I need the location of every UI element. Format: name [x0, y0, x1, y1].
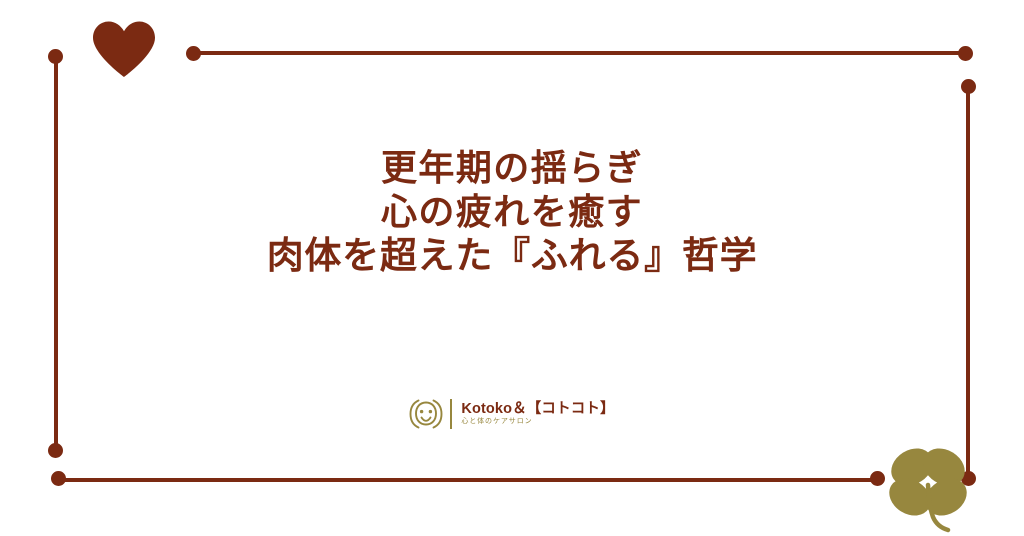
logo-divider	[450, 399, 452, 429]
smiley-face-icon	[409, 396, 443, 432]
frame-dot-left-bottom	[48, 443, 63, 458]
heart-icon	[91, 20, 157, 78]
brand-logo-inner: Kotoko＆【コトコト】 心と体のケアサロン	[409, 396, 614, 432]
logo-text-group: Kotoko＆【コトコト】 心と体のケアサロン	[459, 402, 614, 426]
frame-dot-top-start	[186, 46, 201, 61]
headline: 更年期の揺らぎ 心の疲れを癒す 肉体を超えた『ふれる』哲学	[0, 146, 1024, 278]
logo-brand-name: Kotoko＆【コトコト】	[461, 402, 614, 417]
frame-line-bottom	[58, 478, 877, 482]
logo-tagline: 心と体のケアサロン	[461, 418, 614, 426]
frame-dot-bottom-start	[51, 471, 66, 486]
headline-line-2: 心の疲れを癒す	[0, 190, 1024, 234]
slide-canvas: 更年期の揺らぎ 心の疲れを癒す 肉体を超えた『ふれる』哲学	[0, 0, 1024, 536]
brand-logo: Kotoko＆【コトコト】 心と体のケアサロン	[0, 396, 1024, 432]
frame-line-top	[192, 51, 965, 55]
headline-line-1: 更年期の揺らぎ	[0, 146, 1024, 190]
four-leaf-clover-icon	[880, 441, 978, 536]
frame-dot-right-top	[961, 79, 976, 94]
frame-dot-left-top	[48, 49, 63, 64]
headline-line-3: 肉体を超えた『ふれる』哲学	[0, 234, 1024, 278]
frame-dot-top-end	[958, 46, 973, 61]
